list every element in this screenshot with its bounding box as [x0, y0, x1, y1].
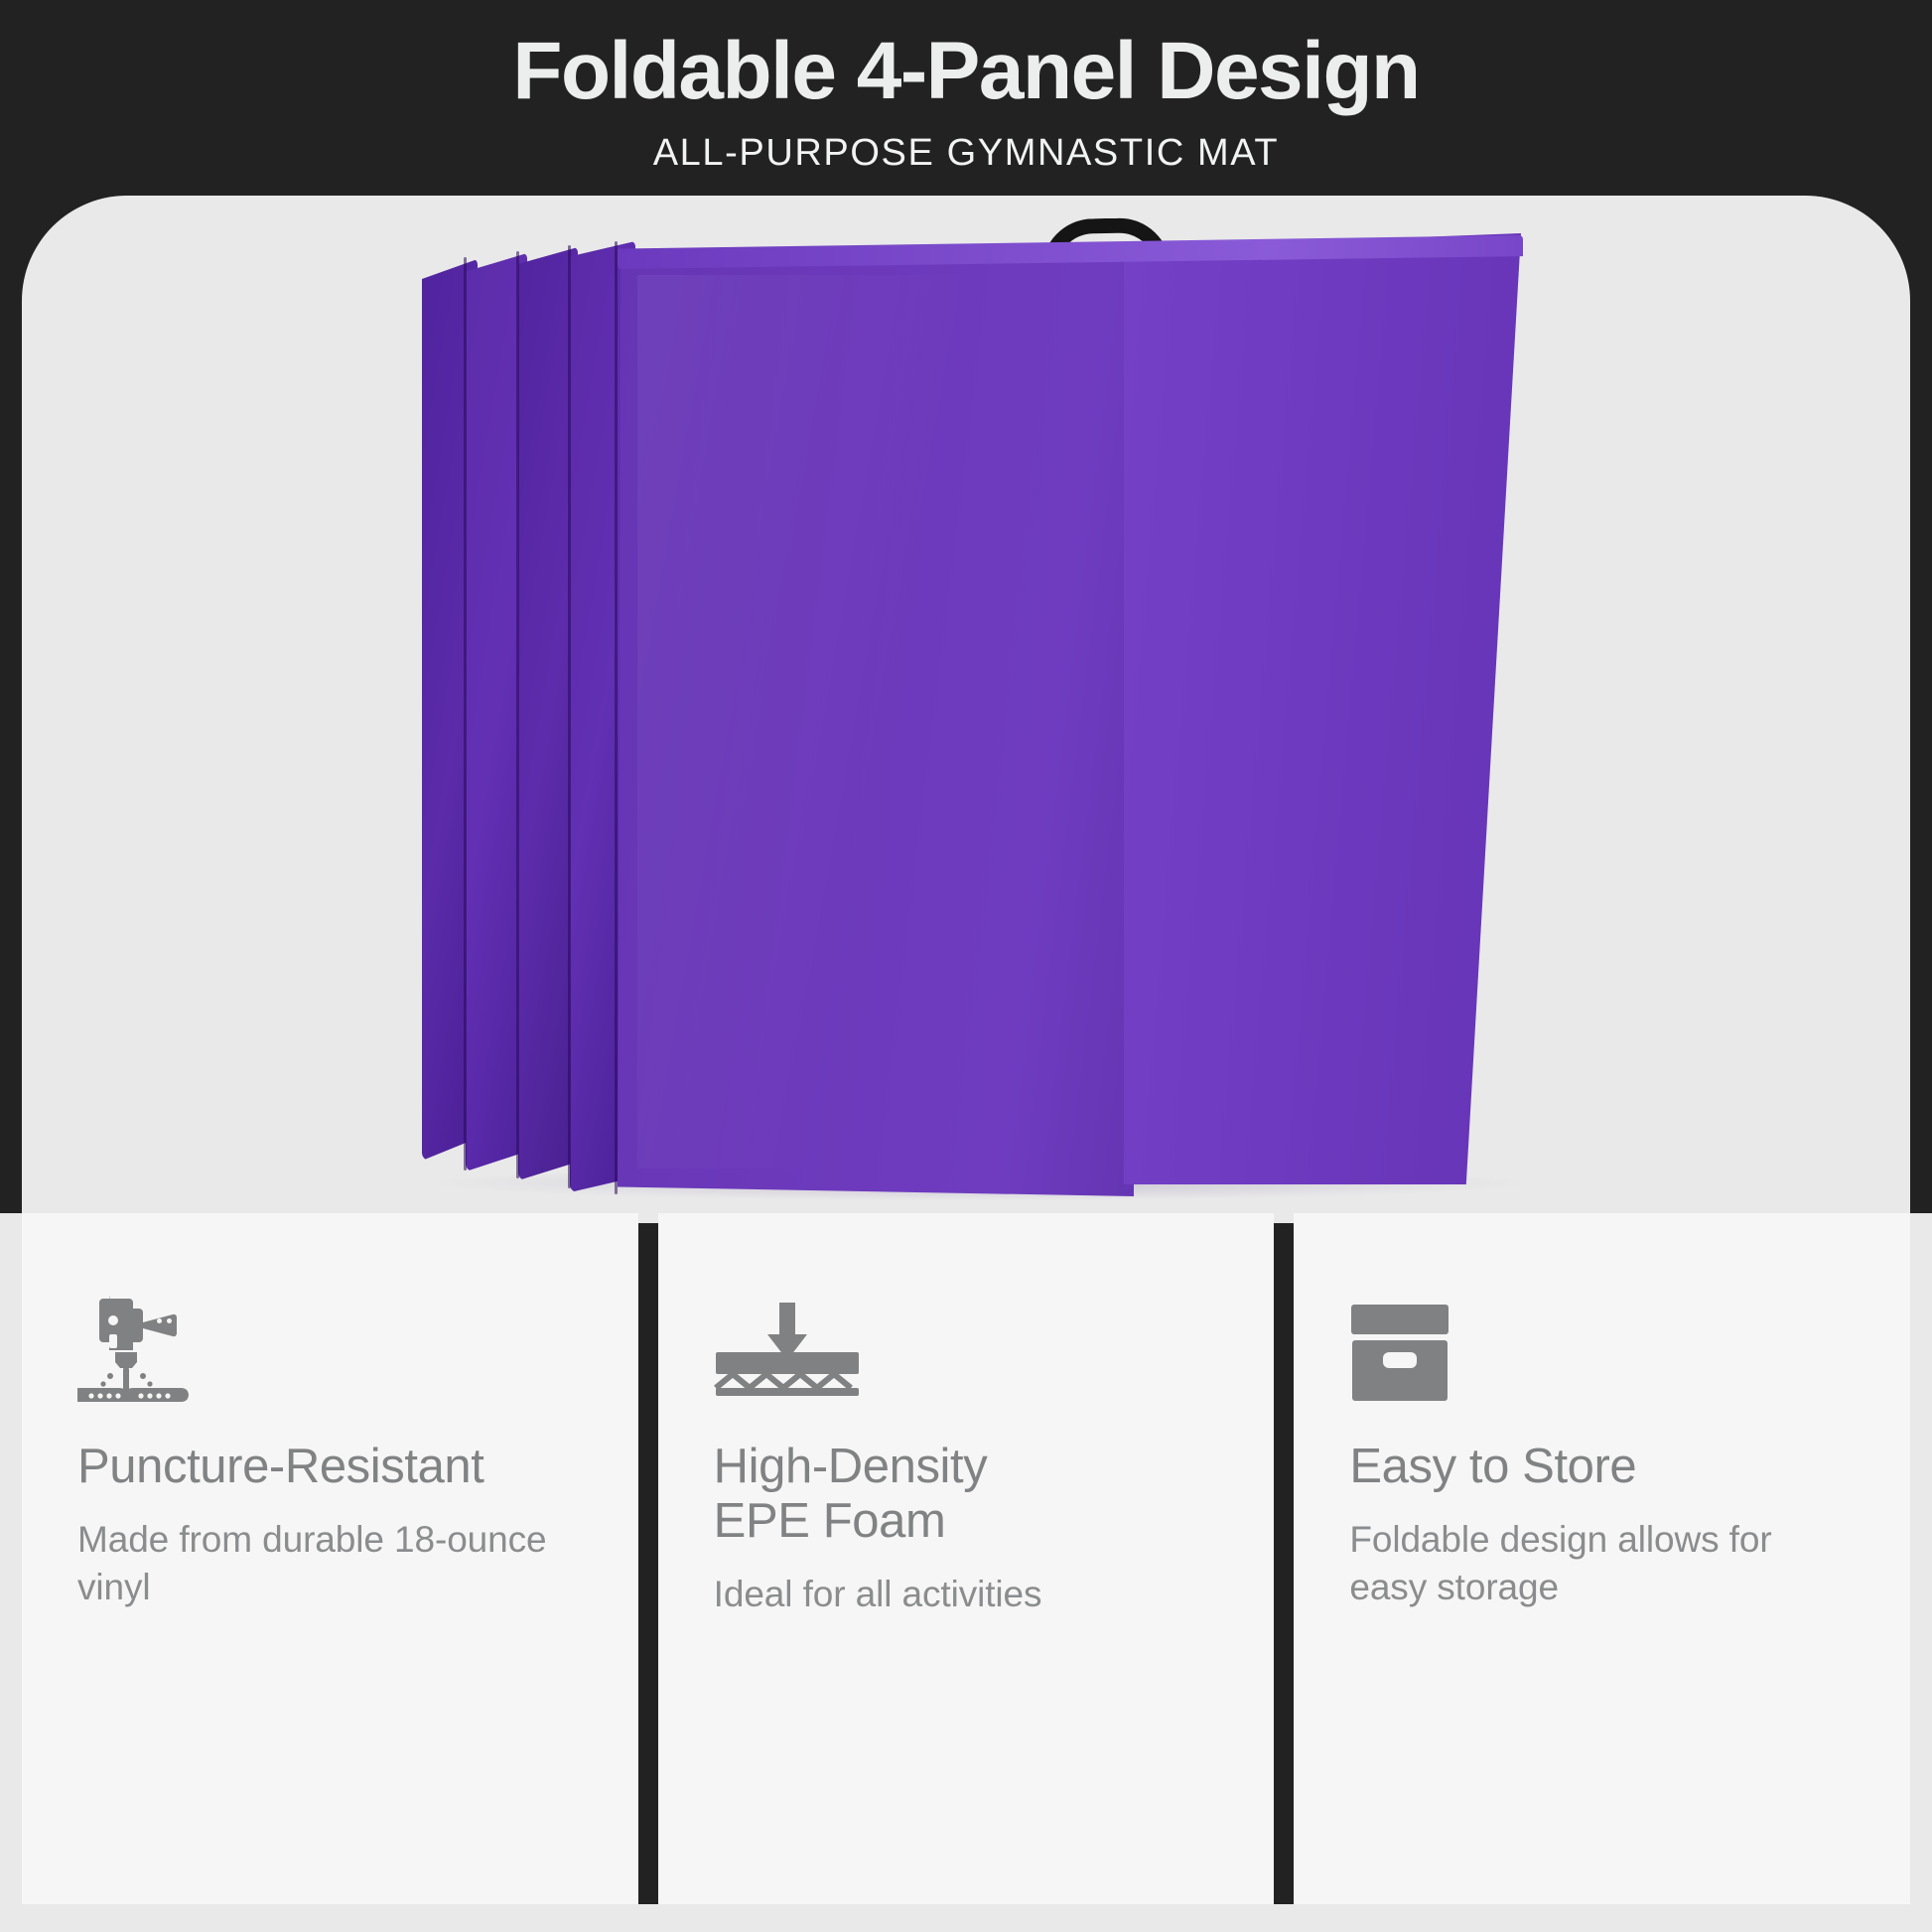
feature-card-high-density-epe-foam: High-Density EPE Foam Ideal for all acti…: [658, 1213, 1275, 1904]
feature-card-puncture-resistant: Puncture-Resistant Made from durable 18-…: [22, 1213, 638, 1904]
mat-seam-1: [464, 257, 467, 1171]
feature-card-description: Made from durable 18-ounce vinyl: [77, 1516, 583, 1611]
feature-card-title: Puncture-Resistant: [77, 1440, 583, 1494]
hero-product-panel: [22, 196, 1910, 1223]
feature-cards-row: Puncture-Resistant Made from durable 18-…: [22, 1213, 1910, 1904]
mat-front-face: [618, 248, 1134, 1196]
page-subtitle: ALL-PURPOSE GYMNASTIC MAT: [0, 131, 1932, 177]
mat-seam-2: [516, 251, 519, 1178]
feature-card-description: Ideal for all activities: [714, 1571, 1219, 1618]
product-image-gymnastic-mat: [22, 196, 1910, 1223]
page-title: Foldable 4-Panel Design: [0, 26, 1932, 117]
right-gutter: [1910, 1213, 1932, 1932]
mat-seam-3: [568, 245, 571, 1188]
storage-box-icon: [1349, 1285, 1855, 1406]
mat-right-face: [1124, 233, 1521, 1184]
feature-card-description: Foldable design allows for easy storage: [1349, 1516, 1855, 1611]
feature-card-easy-to-store: Easy to Store Foldable design allows for…: [1294, 1213, 1910, 1904]
foam-compression-icon: [714, 1285, 1219, 1406]
mat-seam-4: [615, 241, 618, 1194]
drill-puncture-icon: [77, 1285, 583, 1406]
feature-card-title: Easy to Store: [1349, 1440, 1855, 1494]
bottom-gutter: [0, 1904, 1932, 1932]
left-gutter: [0, 1213, 22, 1932]
feature-card-title: High-Density EPE Foam: [714, 1440, 1219, 1549]
